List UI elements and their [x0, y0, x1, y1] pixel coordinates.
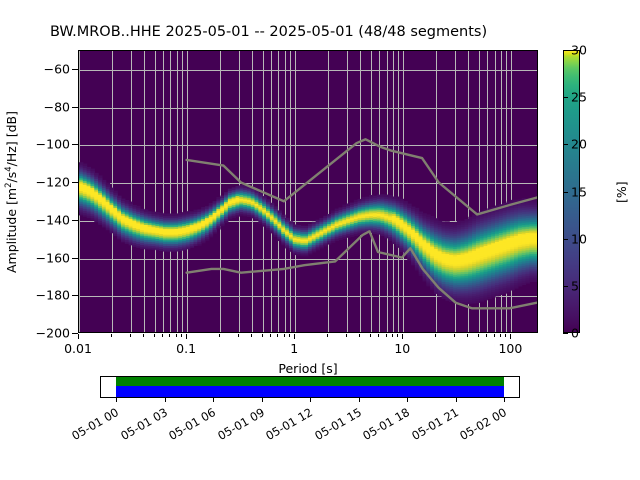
- colorbar-tick: [563, 97, 568, 98]
- timeline-tick-label: 05-01 09: [208, 405, 267, 447]
- timeline-tick-label: 05-02 00: [450, 405, 509, 447]
- x-tick-minor: [327, 334, 328, 337]
- timeline-tick-label: 05-01 06: [159, 405, 218, 447]
- x-tick-minor: [162, 334, 163, 337]
- x-tick-minor: [289, 334, 290, 337]
- x-tick-minor: [386, 334, 387, 337]
- colorbar-tick: [563, 333, 568, 334]
- x-tick-minor: [346, 334, 347, 337]
- x-tick-minor: [181, 334, 182, 337]
- colorbar-tick: [563, 239, 568, 240]
- x-tick-label: 0.1: [176, 341, 196, 356]
- timeline-tick: [456, 398, 457, 402]
- timeline-axis: 05-01 0005-01 0305-01 0605-01 0905-01 12…: [100, 398, 520, 468]
- timeline-tick: [504, 398, 505, 402]
- x-tick-minor: [169, 334, 170, 337]
- colorbar-tick-label: 10: [571, 231, 587, 246]
- x-tick-minor: [284, 334, 285, 337]
- y-tick: [72, 144, 78, 145]
- timeline-tick: [116, 398, 117, 402]
- timeline-tick: [213, 398, 214, 402]
- colorbar-tick-label: 0: [571, 326, 579, 341]
- x-tick-minor: [277, 334, 278, 337]
- x-tick-minor: [494, 334, 495, 337]
- x-tick-minor: [111, 334, 112, 337]
- colorbar-tick-label: 30: [571, 43, 587, 58]
- colorbar-tick-label: 15: [571, 184, 587, 199]
- x-tick-minor: [143, 334, 144, 337]
- x-tick-minor: [154, 334, 155, 337]
- timeline-tick: [407, 398, 408, 402]
- x-axis-label: Period [s]: [78, 361, 538, 376]
- x-tick-minor: [397, 334, 398, 337]
- x-tick-minor: [238, 334, 239, 337]
- timeline-tick: [359, 398, 360, 402]
- y-tick-label: −120: [36, 175, 70, 190]
- y-tick-label: −60: [44, 61, 70, 76]
- x-tick-minor: [378, 334, 379, 337]
- x-tick-major: [294, 334, 295, 339]
- x-tick-label: 1: [290, 341, 298, 356]
- y-axis-label: Amplitude [m2/s4/Hz] [dB]: [4, 111, 19, 273]
- ppsd-figure: BW.MROB..HHE 2025-05-01 -- 2025-05-01 (4…: [0, 0, 640, 480]
- y-tick-label: −180: [36, 288, 70, 303]
- x-tick-major: [78, 334, 79, 339]
- timeline-segment-cumulative: [116, 377, 504, 386]
- timeline-tick-label: 05-01 12: [256, 405, 315, 447]
- timeline-tick-label: 05-01 21: [402, 405, 461, 447]
- timeline-tick: [310, 398, 311, 402]
- y-tick-label: −140: [36, 212, 70, 227]
- x-tick-major: [402, 334, 403, 339]
- x-tick-minor: [392, 334, 393, 337]
- x-tick-minor: [467, 334, 468, 337]
- colorbar-tick-label: 5: [571, 278, 579, 293]
- colorbar-label: [%]: [614, 181, 629, 203]
- y-tick-label: −160: [36, 250, 70, 265]
- x-tick-major: [510, 334, 511, 339]
- colorbar-tick: [563, 144, 568, 145]
- timeline-tick-label: 05-01 18: [353, 405, 412, 447]
- x-tick-minor: [370, 334, 371, 337]
- timeline-tick: [262, 398, 263, 402]
- x-tick-minor: [270, 334, 271, 337]
- x-tick-label: 0.01: [64, 341, 92, 356]
- ppsd-plot-area: [78, 50, 538, 333]
- timeline-tick-label: 05-01 00: [62, 405, 121, 447]
- y-tick-label: −80: [44, 99, 70, 114]
- timeline-tick-label: 05-01 03: [111, 405, 170, 447]
- x-tick-minor: [262, 334, 263, 337]
- y-tick: [72, 258, 78, 259]
- y-tick: [72, 220, 78, 221]
- x-tick-minor: [359, 334, 360, 337]
- y-tick: [72, 295, 78, 296]
- x-tick-minor: [435, 334, 436, 337]
- timeline-segment-data: [116, 386, 504, 397]
- x-tick-minor: [486, 334, 487, 337]
- figure-title: BW.MROB..HHE 2025-05-01 -- 2025-05-01 (4…: [50, 24, 487, 40]
- colorbar-tick: [563, 192, 568, 193]
- y-tick-label: −200: [36, 326, 70, 341]
- x-tick-minor: [219, 334, 220, 337]
- timeline-tick: [165, 398, 166, 402]
- x-tick-minor: [505, 334, 506, 337]
- colorbar-tick-label: 20: [571, 137, 587, 152]
- x-tick-minor: [478, 334, 479, 337]
- noise-model-lines: [79, 51, 537, 333]
- timeline-tick-label: 05-01 15: [305, 405, 364, 447]
- y-tick-label: −100: [36, 137, 70, 152]
- coverage-timeline[interactable]: [100, 376, 520, 398]
- colorbar-tick-label: 25: [571, 90, 587, 105]
- x-tick-minor: [176, 334, 177, 337]
- y-tick: [72, 69, 78, 70]
- x-tick-minor: [454, 334, 455, 337]
- x-tick-label: 100: [498, 341, 522, 356]
- x-tick-minor: [251, 334, 252, 337]
- colorbar-tick: [563, 286, 568, 287]
- x-tick-label: 10: [394, 341, 410, 356]
- y-tick: [72, 182, 78, 183]
- x-tick-major: [186, 334, 187, 339]
- x-tick-minor: [130, 334, 131, 337]
- x-tick-minor: [500, 334, 501, 337]
- colorbar-tick: [563, 50, 568, 51]
- y-tick: [72, 107, 78, 108]
